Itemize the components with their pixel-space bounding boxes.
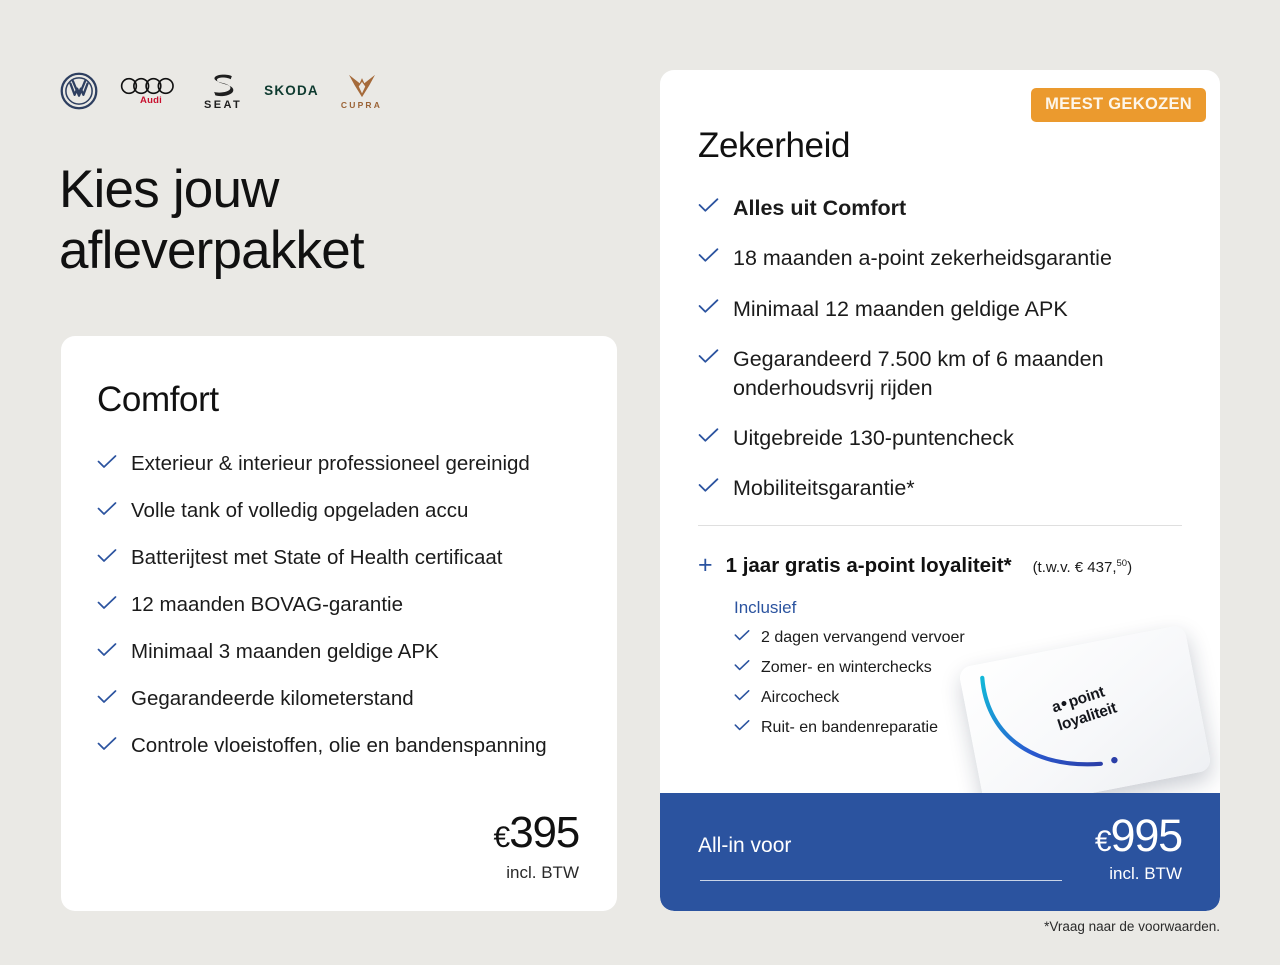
package-card-zekerheid[interactable]: MEEST GEKOZEN Zekerheid Alles uit Comfor…: [660, 70, 1220, 911]
list-item: Controle vloeistoffen, olie en bandenspa…: [97, 732, 577, 759]
check-icon: [97, 549, 117, 563]
skoda-wordmark: SKODA: [264, 84, 319, 98]
check-icon: [698, 198, 719, 213]
check-icon: [97, 690, 117, 704]
list-item: Uitgebreide 130-puntencheck: [698, 424, 1182, 452]
vw-logo-icon: [60, 72, 98, 110]
zekerheid-price-block: €995 incl. BTW: [1095, 813, 1182, 884]
check-icon: [698, 299, 719, 314]
list-item: 18 maanden a-point zekerheidsgarantie: [698, 244, 1182, 272]
zekerheid-price-bar: All-in voor €995 incl. BTW: [660, 793, 1220, 911]
list-item-label: Zomer- en winterchecks: [761, 657, 932, 678]
list-item-label: Batterijtest met State of Health certifi…: [131, 544, 502, 571]
skoda-logo: SKODA: [264, 84, 319, 98]
check-icon: [734, 720, 750, 731]
zekerheid-price: €995: [1095, 813, 1182, 858]
list-item-label: Mobiliteitsgarantie*: [733, 474, 915, 502]
check-icon: [97, 643, 117, 657]
audi-wordmark: Audi: [140, 96, 162, 106]
list-item-label: Minimaal 12 maanden geldige APK: [733, 295, 1068, 323]
comfort-price-block: €395 incl. BTW: [494, 811, 580, 883]
loyalty-bonus-value: (t.w.v. € 437,50): [1033, 558, 1133, 576]
inclusief-label: Inclusief: [734, 598, 1182, 618]
loyalty-value-suffix: ): [1127, 559, 1132, 576]
cupra-logo-icon: [347, 73, 377, 99]
seat-logo: SEAT: [204, 72, 242, 111]
check-icon: [734, 690, 750, 701]
check-icon: [97, 596, 117, 610]
loyalty-bonus-title: 1 jaar gratis a-point loyaliteit*: [726, 554, 1012, 578]
allin-label: All-in voor: [698, 834, 791, 858]
check-icon: [698, 349, 719, 364]
check-icon: [97, 502, 117, 516]
cupra-logo: CUPRA: [341, 73, 382, 110]
loyalty-bonus-row: + 1 jaar gratis a-point loyaliteit* (t.w…: [698, 552, 1182, 578]
loyalty-dot-icon: [1061, 700, 1067, 706]
check-icon: [734, 660, 750, 671]
page-title: Kies jouw afleverpakket: [59, 160, 579, 282]
audi-logo-icon: [120, 77, 182, 95]
list-item: Exterieur & interieur professioneel gere…: [97, 450, 577, 477]
list-item: Batterijtest met State of Health certifi…: [97, 544, 577, 571]
price-bar-rule: [700, 880, 1062, 881]
list-item: Minimaal 12 maanden geldige APK: [698, 295, 1182, 323]
list-item-label: Gegarandeerde kilometerstand: [131, 685, 414, 712]
list-item-label: Uitgebreide 130-puntencheck: [733, 424, 1014, 452]
list-item: Volle tank of volledig opgeladen accu: [97, 497, 577, 524]
list-item-label: Minimaal 3 maanden geldige APK: [131, 638, 439, 665]
page-title-line-1: Kies jouw: [59, 160, 279, 219]
comfort-price: €395: [494, 811, 580, 855]
check-icon: [698, 248, 719, 263]
list-item: Gegarandeerd 7.500 km of 6 maanden onder…: [698, 345, 1182, 402]
list-item: Mobiliteitsgarantie*: [698, 474, 1182, 502]
list-item-label: Controle vloeistoffen, olie en bandenspa…: [131, 732, 547, 759]
list-item-label: Aircocheck: [761, 687, 839, 708]
cupra-wordmark: CUPRA: [341, 101, 382, 110]
section-divider: [698, 525, 1182, 526]
loyalty-value-cents: 50: [1117, 558, 1128, 569]
list-item-label: Alles uit Comfort: [733, 194, 906, 222]
seat-wordmark: SEAT: [204, 100, 242, 111]
check-icon: [734, 630, 750, 641]
list-item: Alles uit Comfort: [698, 194, 1182, 222]
list-item: 12 maanden BOVAG-garantie: [97, 591, 577, 618]
price-value: 995: [1111, 810, 1182, 861]
zekerheid-price-note: incl. BTW: [1095, 864, 1182, 884]
list-item-label: Exterieur & interieur professioneel gere…: [131, 450, 530, 477]
zekerheid-card-title: Zekerheid: [698, 126, 1182, 166]
price-value: 395: [509, 808, 579, 857]
loyalty-value-prefix: (t.w.v. € 437,: [1033, 559, 1117, 576]
brand-logo-strip: Audi SEAT SKODA CUPRA: [60, 66, 382, 116]
list-item-label: Ruit- en bandenreparatie: [761, 717, 938, 738]
check-icon: [97, 455, 117, 469]
list-item-label: Volle tank of volledig opgeladen accu: [131, 497, 468, 524]
seat-logo-icon: [210, 72, 236, 98]
footnote: *Vraag naar de voorwaarden.: [1044, 919, 1220, 934]
list-item-label: Gegarandeerd 7.500 km of 6 maanden onder…: [733, 345, 1182, 402]
currency-symbol: €: [1095, 825, 1111, 858]
list-item: Minimaal 3 maanden geldige APK: [97, 638, 577, 665]
zekerheid-feature-list: Alles uit Comfort 18 maanden a-point zek…: [698, 194, 1182, 503]
comfort-feature-list: Exterieur & interieur professioneel gere…: [97, 450, 577, 759]
list-item-label: 18 maanden a-point zekerheidsgarantie: [733, 244, 1112, 272]
comfort-card-title: Comfort: [97, 380, 577, 420]
check-icon: [698, 428, 719, 443]
check-icon: [698, 478, 719, 493]
plus-icon: +: [698, 553, 713, 578]
package-card-comfort[interactable]: Comfort Exterieur & interieur profession…: [61, 336, 617, 911]
page-title-line-2: afleverpakket: [59, 221, 364, 280]
currency-symbol: €: [494, 821, 510, 854]
check-icon: [97, 737, 117, 751]
list-item: Gegarandeerde kilometerstand: [97, 685, 577, 712]
audi-logo: Audi: [120, 77, 182, 106]
vw-logo: [60, 72, 98, 110]
comfort-price-note: incl. BTW: [494, 863, 580, 883]
list-item-label: 2 dagen vervangend vervoer: [761, 627, 965, 648]
list-item-label: 12 maanden BOVAG-garantie: [131, 591, 403, 618]
